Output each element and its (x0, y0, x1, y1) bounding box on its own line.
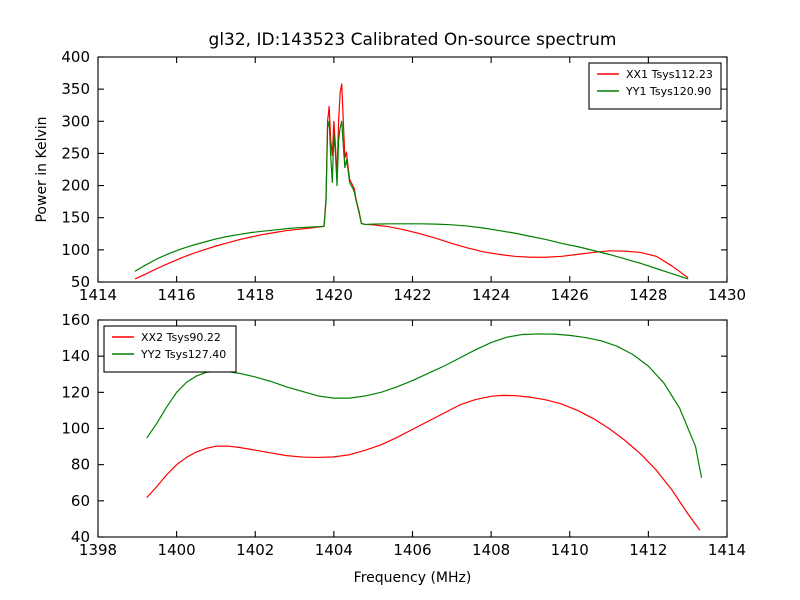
legend-label-yy2: YY2 Tsys127.40 (140, 348, 226, 361)
x-tick-label-bottom: 1408 (472, 541, 510, 559)
y-tick-label-bottom: 60 (71, 492, 90, 510)
y-axis-label-top: Power in Kelvin (34, 116, 50, 222)
y-tick-label-bottom: 160 (61, 311, 90, 329)
x-tick-label-top: 1422 (393, 286, 431, 304)
legend-label-xx1: XX1 Tsys112.23 (626, 68, 713, 81)
legend-top: XX1 Tsys112.23YY1 Tsys120.90 (589, 63, 721, 109)
y-tick-label-top: 350 (61, 80, 90, 98)
legend-label-xx2: XX2 Tsys90.22 (141, 331, 221, 344)
spectrum-plot-canvas: 1414141614181420142214241426142814305010… (0, 0, 800, 600)
series-line-yy1 (135, 121, 687, 279)
x-tick-label-top: 1418 (236, 286, 274, 304)
y-tick-label-top: 300 (61, 112, 90, 130)
axes-top: 1414141614181420142214241426142814305010… (34, 30, 746, 304)
x-tick-label-bottom: 1410 (551, 541, 589, 559)
x-tick-label-top: 1426 (551, 286, 589, 304)
y-tick-label-top: 200 (61, 177, 90, 195)
x-tick-label-top: 1416 (158, 286, 196, 304)
axes-bottom: 1398140014021404140614081410141214144060… (61, 311, 746, 586)
plot-title-top: gl32, ID:143523 Calibrated On-source spe… (209, 30, 617, 50)
x-tick-label-top: 1420 (315, 286, 353, 304)
y-tick-label-bottom: 40 (71, 528, 90, 546)
x-tick-label-bottom: 1402 (236, 541, 274, 559)
y-tick-label-bottom: 100 (61, 420, 90, 438)
x-tick-label-bottom: 1412 (629, 541, 667, 559)
x-tick-label-bottom: 1404 (315, 541, 353, 559)
y-tick-label-top: 250 (61, 144, 90, 162)
y-tick-label-top: 400 (61, 48, 90, 66)
y-tick-label-bottom: 140 (61, 347, 90, 365)
x-tick-label-bottom: 1414 (708, 541, 746, 559)
y-tick-label-bottom: 120 (61, 383, 90, 401)
series-line-xx2 (147, 395, 699, 529)
x-tick-label-bottom: 1406 (393, 541, 431, 559)
matplotlib-figure: 1414141614181420142214241426142814305010… (0, 0, 800, 600)
x-axis-label-bottom: Frequency (MHz) (354, 570, 472, 586)
legend-bottom: XX2 Tsys90.22YY2 Tsys127.40 (104, 326, 236, 372)
x-tick-label-top: 1430 (708, 286, 746, 304)
y-tick-label-top: 100 (61, 241, 90, 259)
x-tick-label-top: 1428 (629, 286, 667, 304)
y-tick-label-top: 150 (61, 209, 90, 227)
y-tick-label-top: 50 (71, 273, 90, 291)
legend-label-yy1: YY1 Tsys120.90 (625, 85, 711, 98)
x-tick-label-bottom: 1400 (158, 541, 196, 559)
series-line-xx1 (135, 84, 687, 279)
y-tick-label-bottom: 80 (71, 456, 90, 474)
x-tick-label-top: 1424 (472, 286, 510, 304)
